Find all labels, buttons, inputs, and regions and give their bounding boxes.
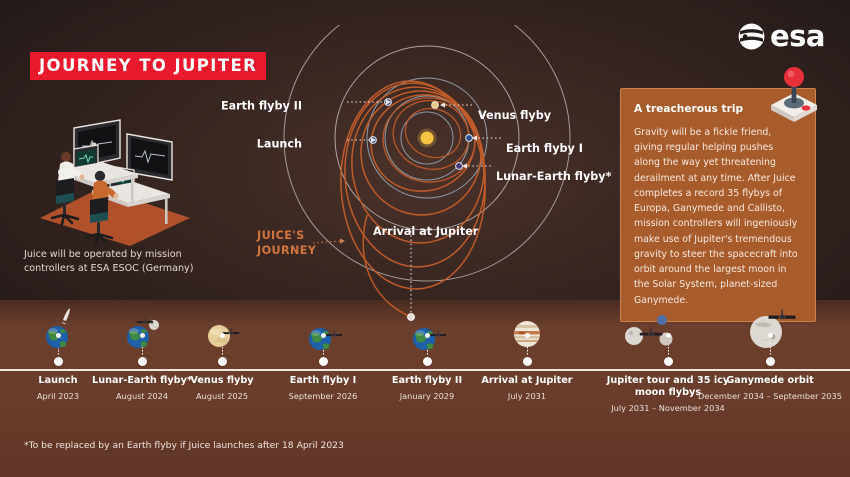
- timeline-marker-dot: [666, 333, 671, 338]
- info-card-body: Gravity will be a fickle friend, giving …: [634, 125, 802, 308]
- page-title-text: JOURNEY TO JUPITER: [39, 56, 257, 75]
- infographic-root: JOURNEY TO JUPITER esa: [0, 0, 850, 477]
- mission-control-caption: Juice will be operated by mission contro…: [24, 248, 214, 276]
- esa-wordmark: esa: [770, 22, 825, 51]
- timeline-marker-dot: [220, 333, 225, 338]
- diagram-label-earth-flyby-2: Earth flyby II: [221, 100, 302, 113]
- info-card: A treacherous trip Gravity will be a fic…: [620, 88, 816, 322]
- timeline-item-label: Arrival at Jupiter: [452, 375, 602, 387]
- timeline-axis-dot: [54, 357, 63, 366]
- timeline-marker-dot: [425, 333, 430, 338]
- diagram-label-juices-journey-line2: JOURNEY: [257, 244, 316, 257]
- timeline-marker-dot: [321, 333, 326, 338]
- jupiter-icon: [452, 310, 602, 352]
- diagram-label-juices-journey-line1: JUICE'S: [257, 229, 305, 242]
- orbit-diagram: Earth flyby II Launch Venus flyby Earth …: [255, 25, 615, 325]
- timeline-axis-dot: [218, 357, 227, 366]
- timeline-marker-dot: [140, 333, 145, 338]
- ganymede-spacecraft-icon: [695, 310, 845, 352]
- diagram-label-launch: Launch: [257, 138, 302, 151]
- timeline-marker-dot: [525, 333, 530, 338]
- timeline-axis-dot: [766, 357, 775, 366]
- timeline-axis-dot: [664, 357, 673, 366]
- timeline-axis-dot: [423, 357, 432, 366]
- timeline-axis-dot: [138, 357, 147, 366]
- timeline-item-label: Ganymede orbit: [695, 375, 845, 387]
- timeline-item-date: July 2031 – November 2034: [593, 403, 743, 414]
- timeline-item[interactable]: Ganymede orbit December 2034 – September…: [695, 310, 845, 402]
- diagram-label-arrival-at-jupiter: Arrival at Jupiter: [373, 225, 478, 238]
- diagram-label-lunar-earth-flyby: Lunar-Earth flyby*: [496, 170, 611, 183]
- esa-satellite-icon: [738, 23, 765, 50]
- page-title: JOURNEY TO JUPITER: [30, 52, 266, 80]
- joystick-icon: [761, 61, 827, 127]
- timeline-item-date: July 2031: [452, 391, 602, 402]
- esa-logo: esa: [738, 22, 825, 51]
- diagram-label-earth-flyby-1: Earth flyby I: [506, 142, 583, 155]
- mission-control-illustration: [22, 118, 207, 246]
- timeline-axis-dot: [523, 357, 532, 366]
- timeline-axis-dot: [319, 357, 328, 366]
- timeline-marker-dot: [56, 333, 61, 338]
- timeline-item[interactable]: Arrival at Jupiter July 2031: [452, 310, 602, 402]
- timeline-item-date: December 2034 – September 2035: [695, 391, 845, 402]
- diagram-label-venus-flyby: Venus flyby: [478, 109, 551, 122]
- timeline-marker-dot: [768, 333, 773, 338]
- footnote: *To be replaced by an Earth flyby if Jui…: [24, 440, 344, 451]
